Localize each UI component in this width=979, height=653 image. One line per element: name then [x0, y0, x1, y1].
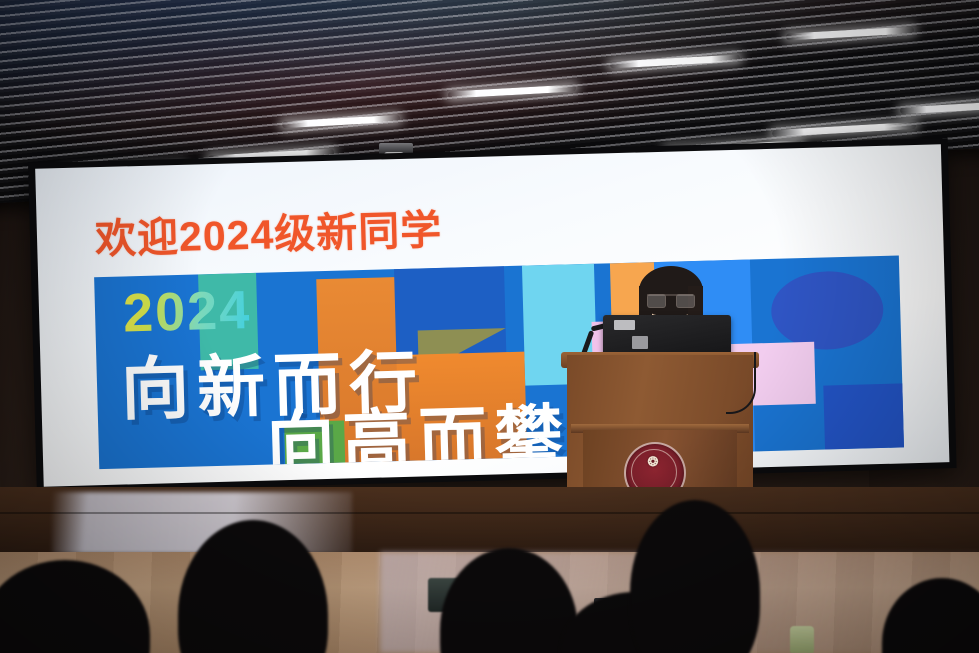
- lecture-hall-photo: 欢迎2024级新同学 2024 向新而行 向高而攀 ❂: [0, 0, 979, 653]
- projection-screen: 欢迎2024级新同学 2024 向新而行 向高而攀: [35, 144, 949, 486]
- banner-slogan-line-2: 向高而攀: [265, 380, 572, 469]
- projection-screen-frame: 欢迎2024级新同学 2024 向新而行 向高而攀: [28, 138, 957, 493]
- laptop-sticker-lower: [632, 336, 648, 349]
- laptop-sticker-top: [614, 320, 635, 330]
- slide-heading: 欢迎2024级新同学: [94, 196, 443, 265]
- university-emblem-glyph: ❂: [634, 455, 672, 468]
- banner-block-indigo: [823, 383, 904, 449]
- banner-ellipse-navy: [770, 270, 884, 351]
- stage-wall-seam: [0, 512, 979, 514]
- slide-banner-graphic: 2024 向新而行 向高而攀: [94, 255, 904, 469]
- drink-cup: [790, 626, 814, 653]
- glasses-lens-left: [647, 294, 666, 308]
- glasses-lens-right: [676, 294, 695, 308]
